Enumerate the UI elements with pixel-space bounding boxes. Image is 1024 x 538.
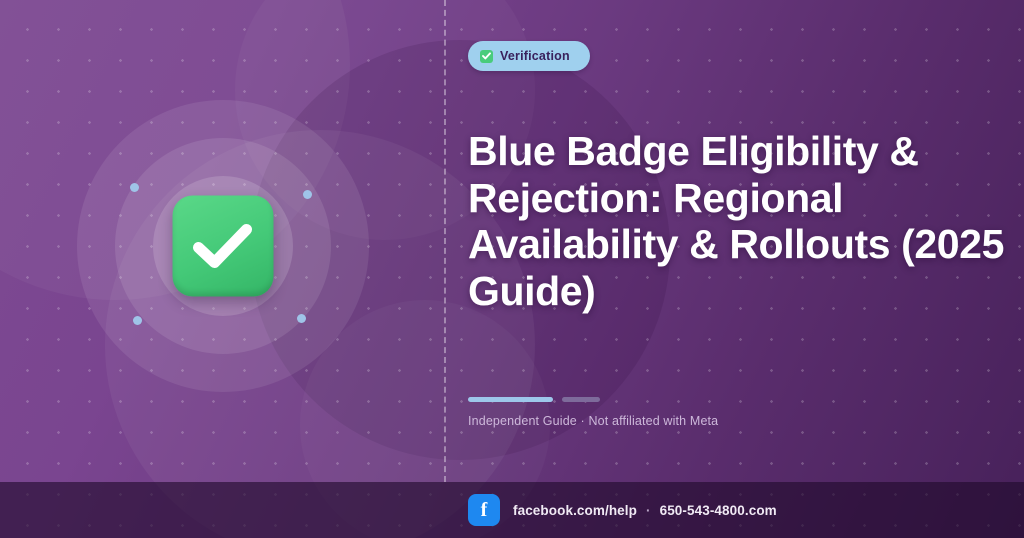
accent-dot-bottom-left bbox=[133, 316, 142, 325]
footer-content: f facebook.com/help · 650-543-4800.com bbox=[468, 482, 777, 538]
accent-bars bbox=[468, 397, 600, 402]
facebook-icon-glyph: f bbox=[481, 500, 488, 520]
verification-graphic bbox=[75, 98, 370, 393]
promo-banner: Verification Blue Badge Eligibility & Re… bbox=[0, 0, 1024, 538]
accent-bar-primary bbox=[468, 397, 553, 402]
footer-phone-link[interactable]: 650-543-4800.com bbox=[660, 503, 777, 518]
facebook-icon[interactable]: f bbox=[468, 494, 500, 526]
disclaimer-text: Independent Guide · Not affiliated with … bbox=[468, 414, 718, 428]
accent-dot-top-left bbox=[130, 183, 139, 192]
vertical-dashed-divider bbox=[444, 0, 446, 482]
accent-dot-bottom-right bbox=[297, 314, 306, 323]
status-badge-label: Verification bbox=[500, 49, 570, 63]
footer-separator: · bbox=[646, 503, 651, 518]
footer-bar: f facebook.com/help · 650-543-4800.com bbox=[0, 482, 1024, 538]
green-check-tile-icon bbox=[172, 195, 273, 296]
accent-bar-secondary bbox=[562, 397, 600, 402]
footer-contact-info: facebook.com/help · 650-543-4800.com bbox=[513, 503, 777, 518]
check-square-icon bbox=[480, 50, 493, 63]
status-badge: Verification bbox=[468, 41, 590, 71]
accent-dot-top-right bbox=[303, 190, 312, 199]
content-column: Verification Blue Badge Eligibility & Re… bbox=[468, 0, 1024, 482]
footer-website-link[interactable]: facebook.com/help bbox=[513, 503, 637, 518]
page-title: Blue Badge Eligibility & Rejection: Regi… bbox=[468, 128, 1013, 314]
